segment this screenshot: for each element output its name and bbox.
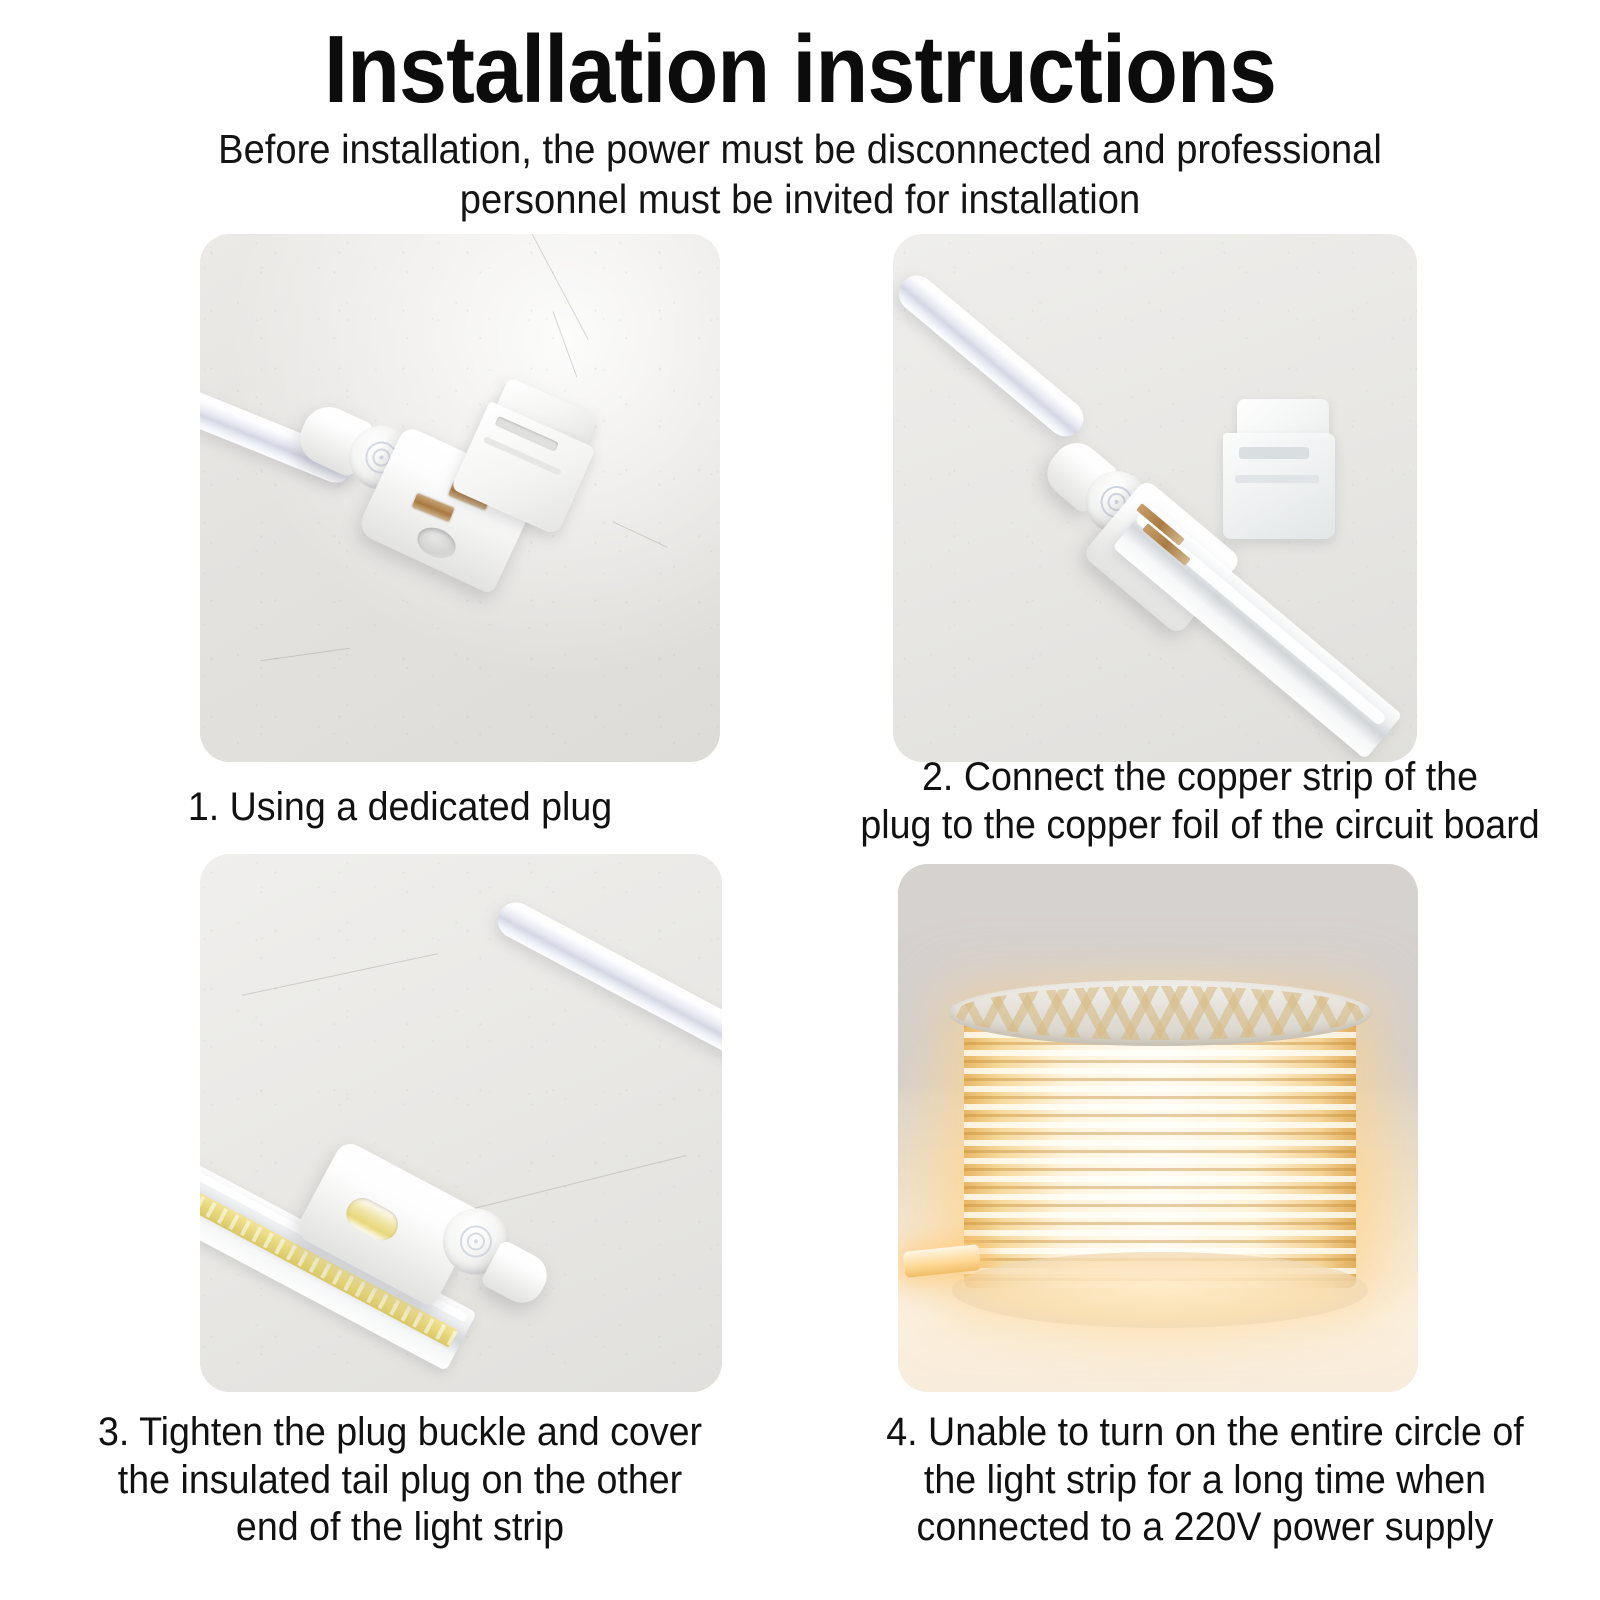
coil-highlight xyxy=(964,1104,1356,1110)
step-4-caption: 4. Unable to turn on the entire circle o… xyxy=(815,1409,1595,1551)
step-2: 2. Connect the copper strip of the plug … xyxy=(800,224,1600,844)
spool-top-flange xyxy=(948,980,1372,1046)
step-2-caption: 2. Connect the copper strip of the plug … xyxy=(777,754,1600,848)
step-4: 4. Unable to turn on the entire circle o… xyxy=(800,854,1600,1589)
coil-line xyxy=(964,1114,1356,1117)
coil-highlight xyxy=(964,1140,1356,1146)
installation-steps-grid: 1. Using a dedicated plug xyxy=(0,224,1600,1589)
coil-line xyxy=(964,1060,1356,1063)
coil-line xyxy=(964,1186,1356,1189)
coil-highlight xyxy=(964,1122,1356,1128)
step-3: 3. Tighten the plug buckle and cover the… xyxy=(0,854,800,1589)
page-title: Installation instructions xyxy=(80,26,1520,114)
coil-line xyxy=(964,1096,1356,1099)
buckle-clip xyxy=(1223,399,1343,549)
coil-line xyxy=(964,1222,1356,1225)
coil-highlight xyxy=(964,1086,1356,1092)
spool-web-pattern xyxy=(954,986,1366,1040)
header: Installation instructions Before install… xyxy=(0,0,1600,224)
led-strip-reel xyxy=(964,1010,1356,1288)
coil-highlight xyxy=(964,1212,1356,1218)
coil-highlight xyxy=(964,1194,1356,1200)
coil-line xyxy=(964,1078,1356,1081)
step-1-photo xyxy=(200,234,720,762)
coil-line xyxy=(964,1240,1356,1243)
buckle-clip-groove xyxy=(1235,475,1319,483)
coil-highlight xyxy=(964,1068,1356,1074)
buckle-clip-slot xyxy=(1239,447,1309,459)
coil-line xyxy=(964,1168,1356,1171)
step-3-caption: 3. Tighten the plug buckle and cover the… xyxy=(43,1409,757,1551)
coil-highlight xyxy=(964,1158,1356,1164)
coil-line xyxy=(964,1132,1356,1135)
coil-highlight xyxy=(964,1176,1356,1182)
page-subtitle: Before installation, the power must be d… xyxy=(56,124,1544,224)
step-2-photo xyxy=(893,234,1417,762)
coil-line xyxy=(964,1150,1356,1153)
step-1: 1. Using a dedicated plug xyxy=(0,224,800,844)
step-3-photo xyxy=(200,854,722,1392)
coil-highlight xyxy=(964,1050,1356,1056)
spool-bottom-coil xyxy=(952,1252,1368,1328)
coil-line xyxy=(964,1204,1356,1207)
step-1-caption: 1. Using a dedicated plug xyxy=(52,784,748,831)
step-4-photo xyxy=(898,864,1418,1392)
coil-highlight xyxy=(964,1230,1356,1236)
